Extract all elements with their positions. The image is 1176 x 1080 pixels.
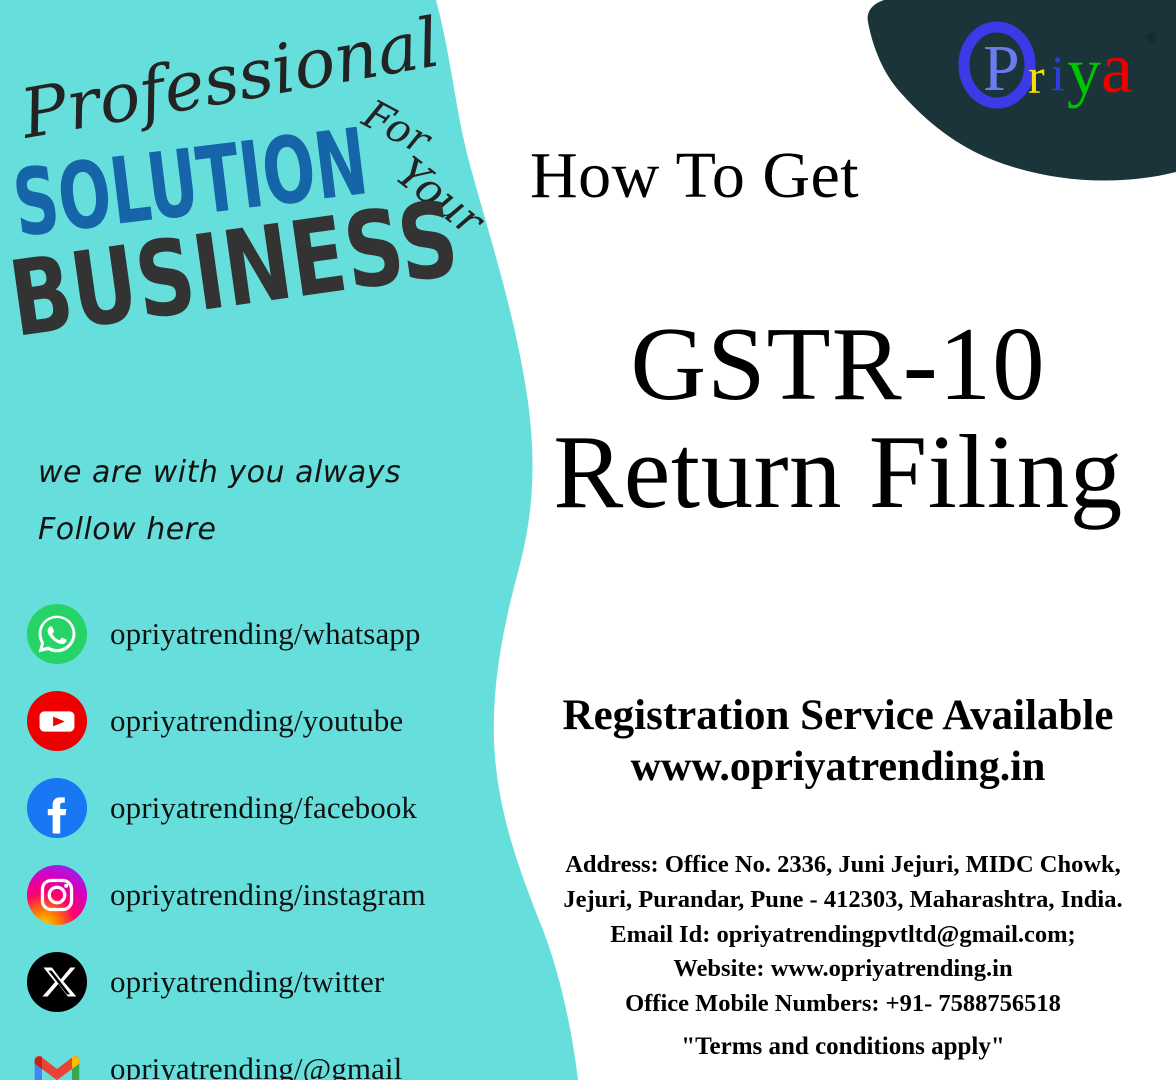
registration-website[interactable]: www.opriyatrending.in: [500, 742, 1176, 793]
right-panel: How To Get GSTR-10 Return Filing Registr…: [500, 0, 1176, 1080]
page-title: GSTR-10 Return Filing: [500, 312, 1176, 524]
gmail-icon[interactable]: [26, 1038, 88, 1080]
instagram-icon[interactable]: [26, 864, 88, 926]
tagline-block: we are with you always Follow here: [38, 444, 508, 558]
contact-email[interactable]: Email Id: opriyatrendingpvtltd@gmail.com…: [510, 918, 1176, 953]
brand-lockup: Professional For Your SOLUTION BUSINESS: [8, 18, 508, 378]
social-row-whatsapp[interactable]: opriyatrending/whatsapp: [26, 590, 506, 677]
contact-address-line-1: Address: Office No. 2336, Juni Jejuri, M…: [510, 848, 1176, 883]
social-handle-youtube[interactable]: opriyatrending/youtube: [110, 703, 403, 739]
social-row-gmail[interactable]: opriyatrending/@gmail: [26, 1025, 506, 1080]
title-line-2: Return Filing: [500, 420, 1176, 524]
facebook-icon[interactable]: [26, 777, 88, 839]
tagline-line-2: Follow here: [38, 501, 508, 558]
social-row-twitter[interactable]: opriyatrending/twitter: [26, 938, 506, 1025]
social-row-instagram[interactable]: opriyatrending/instagram: [26, 851, 506, 938]
contact-mobile: Office Mobile Numbers: +91- 7588756518: [510, 987, 1176, 1022]
social-handle-gmail[interactable]: opriyatrending/@gmail: [110, 1051, 402, 1080]
logo-letter-r: r: [1028, 48, 1045, 104]
logo-letter-p: P: [983, 32, 1020, 105]
title-line-1: GSTR-10: [500, 312, 1176, 416]
contact-website[interactable]: Website: www.opriyatrending.in: [510, 952, 1176, 987]
tagline-line-1: we are with you always: [38, 444, 508, 501]
logo-letter-a: a: [1101, 28, 1133, 108]
social-row-facebook[interactable]: opriyatrending/facebook: [26, 764, 506, 851]
social-links-list: opriyatrending/whatsapp opriyatrending/y…: [26, 590, 506, 1080]
contact-address-line-2: Jejuri, Purandar, Pune - 412303, Maharas…: [510, 883, 1176, 918]
logo-letter-i: i: [1051, 45, 1065, 101]
registration-service-text: Registration Service Available: [500, 690, 1176, 742]
logo-letter-y: y: [1067, 33, 1101, 109]
social-handle-whatsapp[interactable]: opriyatrending/whatsapp: [110, 616, 421, 652]
registered-trademark-icon: ®: [1146, 30, 1156, 45]
terms-disclaimer: "Terms and conditions apply": [510, 1029, 1176, 1065]
left-panel: Professional For Your SOLUTION BUSINESS …: [0, 0, 520, 1080]
social-row-youtube[interactable]: opriyatrending/youtube: [26, 677, 506, 764]
twitter-x-icon[interactable]: [26, 951, 88, 1013]
youtube-icon[interactable]: [26, 690, 88, 752]
opriya-logo[interactable]: P r i y a ®: [950, 18, 1165, 118]
eyebrow-heading: How To Get: [530, 138, 859, 214]
contact-details-block: Address: Office No. 2336, Juni Jejuri, M…: [510, 848, 1176, 1064]
social-handle-instagram[interactable]: opriyatrending/instagram: [110, 877, 426, 913]
whatsapp-icon[interactable]: [26, 603, 88, 665]
social-handle-facebook[interactable]: opriyatrending/facebook: [110, 790, 417, 826]
registration-block: Registration Service Available www.opriy…: [500, 690, 1176, 794]
poster-canvas: Professional For Your SOLUTION BUSINESS …: [0, 0, 1176, 1080]
social-handle-twitter[interactable]: opriyatrending/twitter: [110, 964, 384, 1000]
